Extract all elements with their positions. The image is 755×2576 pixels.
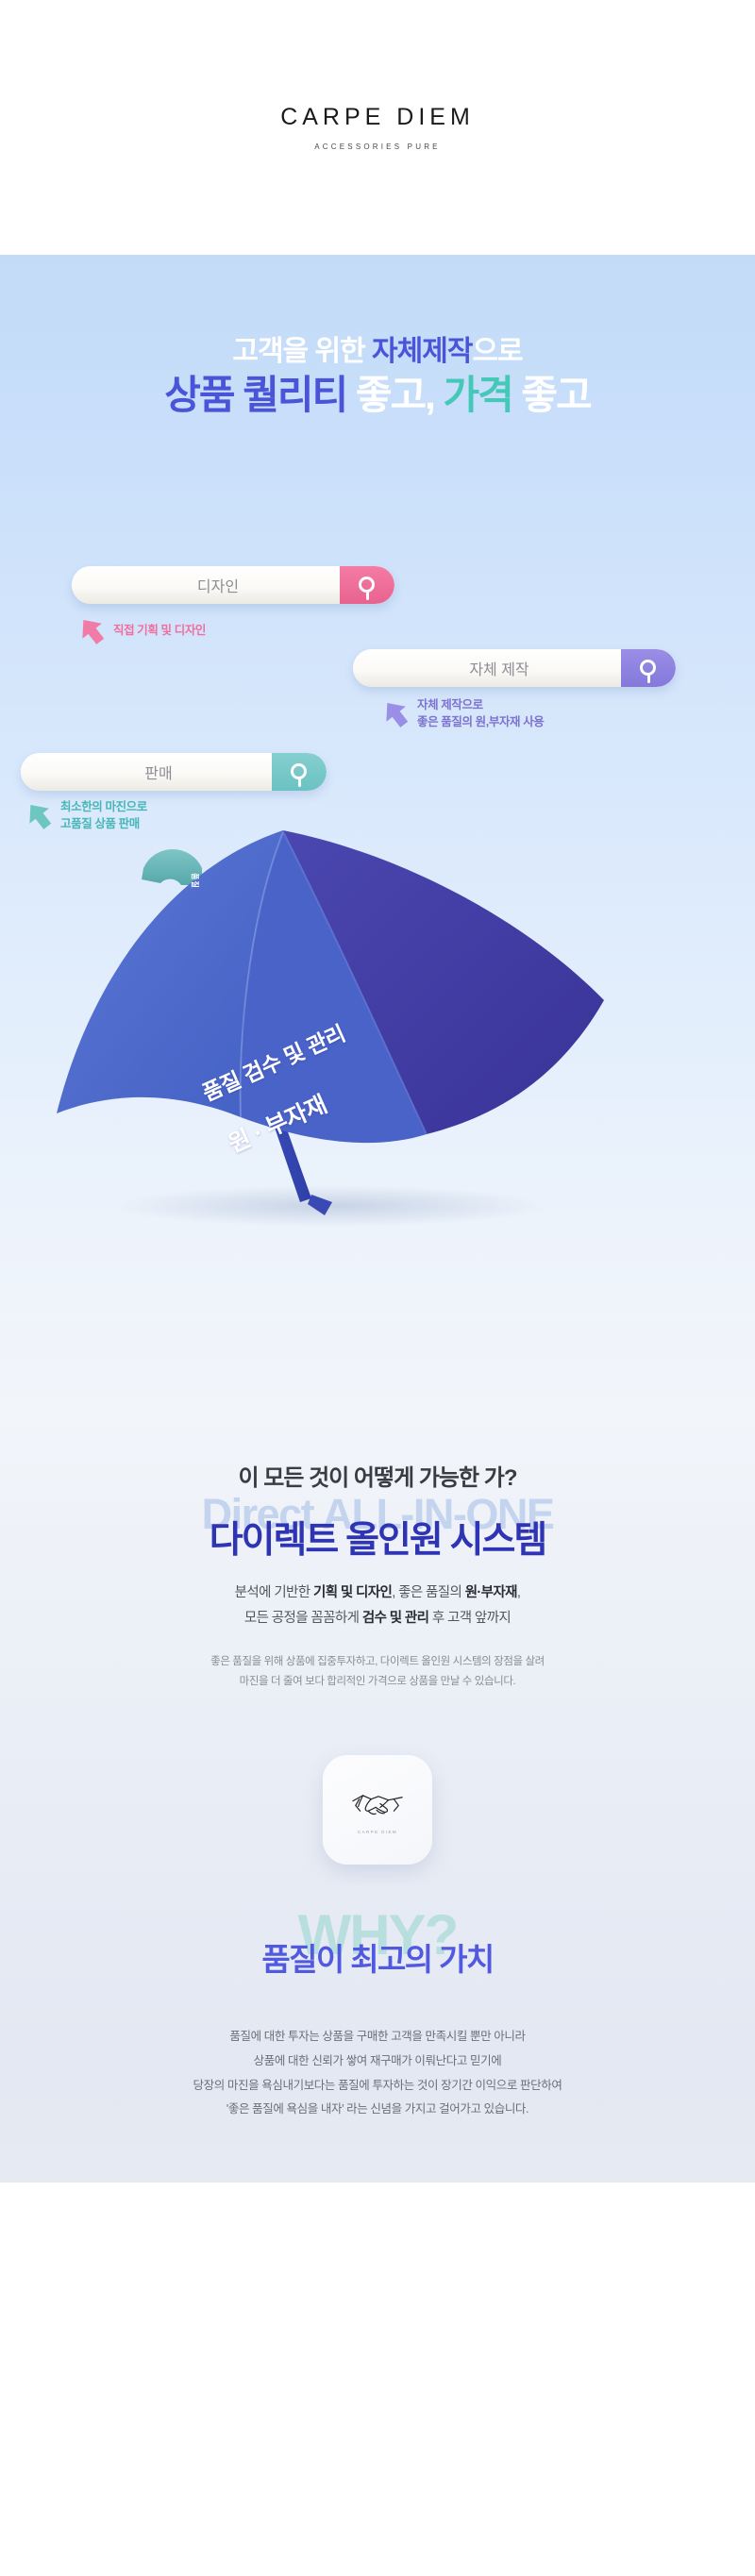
lead-1e: ,: [517, 1585, 520, 1600]
search-button-design[interactable]: [340, 566, 394, 604]
lead-1c: , 좋은 품질의: [392, 1585, 464, 1600]
hero-headline-line1: 고객을 위한 자체제작으로: [0, 336, 755, 367]
why-body-line4: '좋은 품질에 욕심을 내자' 라는 신념을 가지고 걸어가고 있습니다.: [226, 2102, 528, 2116]
search-icon: [359, 577, 375, 593]
all-in-one-sub-line1: 좋은 품질을 위해 상품에 집중투자하고, 다이렉트 올인원 시스템의 장점을 …: [210, 1656, 545, 1667]
arrow-up-icon: [377, 695, 413, 731]
hero-line2-teal: 가격: [443, 373, 521, 417]
why-body-line1: 품질에 대한 투자는 상품을 구매한 고객을 만족시킬 뿐만 아니라: [229, 2030, 525, 2043]
all-in-one-lead: 분석에 기반한 기획 및 디자인, 좋은 품질의 원·부자재, 모든 공정을 꼼…: [0, 1581, 755, 1631]
brand-header: CARPE DIEM ACCESSORIES PURE: [0, 0, 755, 255]
hero-section: 고객을 위한 자체제작으로 상품 퀄리티 좋고, 가격 좋고: [0, 255, 755, 1415]
why-body-line3: 당장의 마진을 욕심내기보다는 품질에 투자하는 것이 장기간 이익으로 판단하…: [193, 2079, 562, 2092]
arrow-up-icon: [74, 612, 109, 648]
brand-subtitle: ACCESSORIES PURE: [314, 142, 440, 151]
annotation-design-text: 직접 기획 및 디자인: [113, 622, 206, 639]
brand-title: CARPE DIEM: [280, 104, 475, 131]
all-in-one-sub-line2: 마진을 더 줄여 보다 합리적인 가격으로 상품을 만날 수 있습니다.: [240, 1676, 516, 1687]
why-section: WHY? 품질이 최고의 가치 품질에 대한 투자는 상품을 구매한 고객을 만…: [0, 1885, 755, 2183]
search-bar-design[interactable]: 디자인: [72, 566, 394, 604]
why-body-line2: 상품에 대한 신뢰가 쌓여 재구매가 이뤄난다고 믿기에: [254, 2054, 502, 2067]
search-bar-manufacture[interactable]: 자체 제작: [353, 649, 676, 687]
why-title-block: WHY? 품질이 최고의 가치: [0, 1902, 755, 1993]
umbrella-shadow: [113, 1185, 547, 1227]
search-icon: [291, 763, 307, 779]
hero-headline-line2: 상품 퀄리티 좋고, 가격 좋고: [0, 373, 755, 417]
annotation-manufacture-text: 자체 제작으로 좋은 품질의 원,부자재 사용: [417, 696, 544, 730]
search-button-manufacture[interactable]: [621, 649, 676, 687]
why-body: 품질에 대한 투자는 상품을 구매한 고객을 만족시킬 뿐만 아니라 상품에 대…: [0, 2025, 755, 2122]
search-bar-design-label: 디자인: [72, 574, 340, 596]
annotation-design: 직접 기획 및 디자인: [79, 617, 206, 644]
hero-line1-plain: 고객을 위한: [232, 336, 372, 367]
handshake-icon: [350, 1786, 405, 1822]
lead-1b: 기획 및 디자인: [313, 1585, 392, 1600]
search-bar-sales-label: 판매: [21, 761, 272, 783]
search-bar-sales[interactable]: 판매: [21, 753, 327, 791]
search-bar-manufacture-label: 자체 제작: [353, 657, 621, 679]
logo-card: CARPE DIEM: [323, 1755, 432, 1865]
all-in-one-section: 이 모든 것이 어떻게 가능한 가? Direct ALL-IN-ONE 다이렉…: [0, 1415, 755, 1731]
lead-1d: 원·부자재: [465, 1585, 517, 1600]
logo-card-section: CARPE DIEM: [0, 1731, 755, 1885]
arrow-up-icon: [21, 797, 57, 833]
search-button-sales[interactable]: [272, 753, 327, 791]
umbrella-pole-label: 품질: [190, 873, 200, 889]
annotation-sales-text: 최소한의 마진으로 고품질 상품 판매: [60, 798, 147, 832]
hero-line1-highlight: 자체제작: [372, 336, 472, 367]
hero-line2-blue: 상품 퀄리티: [164, 373, 356, 417]
annotation-sales: 최소한의 마진으로 고품질 상품 판매: [26, 798, 147, 832]
hero-line2-white1: 좋고,: [356, 373, 444, 417]
search-icon: [640, 660, 656, 676]
logo-card-caption: CARPE DIEM: [358, 1830, 397, 1834]
hero-line1-tail: 으로: [472, 336, 522, 367]
annotation-manufacture: 자체 제작으로 좋은 품질의 원,부자재 사용: [383, 696, 544, 730]
lead-1a: 분석에 기반한: [235, 1585, 313, 1600]
all-in-one-sub: 좋은 품질을 위해 상품에 집중투자하고, 다이렉트 올인원 시스템의 장점을 …: [0, 1652, 755, 1694]
hero-line2-white2: 좋고: [521, 373, 590, 417]
all-in-one-title-block: Direct ALL-IN-ONE 다이렉트 올인원 시스템: [0, 1496, 755, 1558]
why-title: 품질이 최고의 가치: [0, 1934, 755, 1980]
product-detail-page: CARPE DIEM ACCESSORIES PURE 고객을 위한 자체제작으…: [0, 0, 755, 2183]
lead-2a: 모든 공정을 꼼꼼하게: [244, 1611, 362, 1626]
lead-2b: 검수 및 관리: [362, 1611, 429, 1626]
all-in-one-title: 다이렉트 올인원 시스템: [0, 1511, 755, 1564]
all-in-one-question: 이 모든 것이 어떻게 가능한 가?: [0, 1459, 755, 1492]
lead-2c: 후 고객 앞까지: [428, 1611, 511, 1626]
hero-headlines: 고객을 위한 자체제작으로 상품 퀄리티 좋고, 가격 좋고: [0, 336, 755, 417]
